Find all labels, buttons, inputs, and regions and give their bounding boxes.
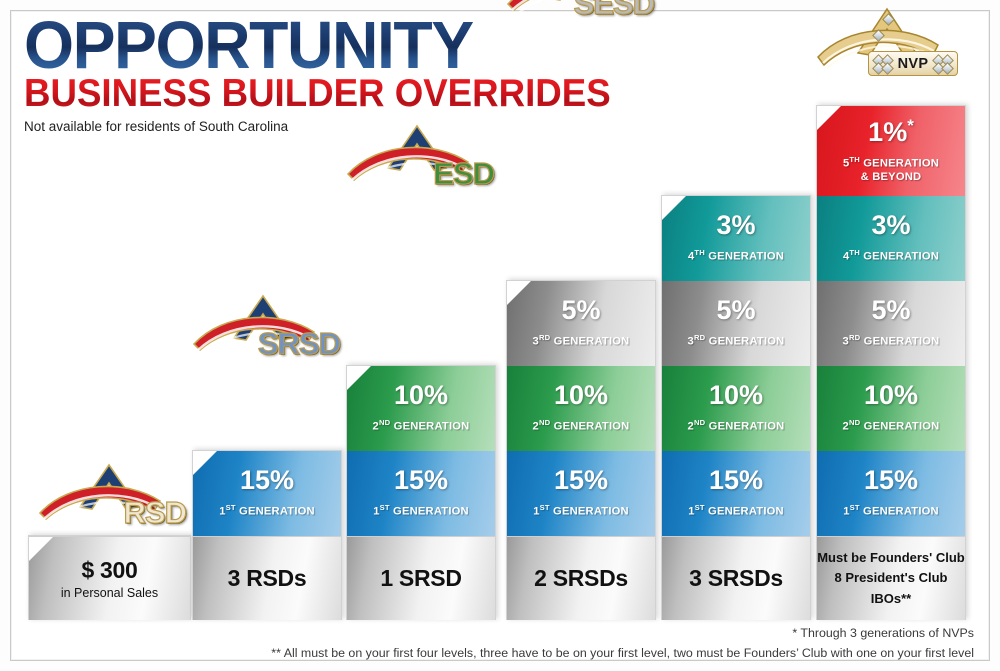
tier-generation-label: 1ST GENERATION xyxy=(688,503,784,519)
tier-2nd-generation: 10% 2ND GENERATION xyxy=(507,366,655,451)
column-srsd[interactable]: SRSD 15% 1ST GENERATION 3 RSDs xyxy=(192,450,342,620)
pin-plate-nvp: NVP xyxy=(868,51,958,76)
corner-fold xyxy=(29,536,54,562)
qualification-esd: 1 SRSD xyxy=(347,536,495,620)
qualification-line-2: 8 President's Club IBOs** xyxy=(817,568,965,608)
gen-ordinal: ST xyxy=(695,503,705,512)
tier-percent: 15% xyxy=(394,467,448,494)
tier-generation-label: 1ST GENERATION xyxy=(373,503,469,519)
gen-ordinal: RD xyxy=(539,333,550,342)
tier-1st-generation: 15% 1ST GENERATION xyxy=(662,451,810,536)
tier-3rd-generation: 5% 3RD GENERATION xyxy=(507,281,655,366)
tier-percent: 10% xyxy=(864,382,918,409)
tier-generation-label: 3RD GENERATION xyxy=(843,333,940,349)
tier-stack-sesd: 5% 3RD GENERATION 10% 2ND GENERATION 15%… xyxy=(506,280,656,620)
corner-fold xyxy=(507,281,532,306)
gen-word-2: & BEYOND xyxy=(861,171,922,183)
pin-label-srsd: SRSD xyxy=(258,326,340,362)
gen-ordinal: ND xyxy=(849,418,860,427)
corner-fold xyxy=(193,451,218,476)
gen-ordinal: ND xyxy=(379,418,390,427)
column-nvp[interactable]: NVP 1%* 5TH GENERATION& BEYOND 3% xyxy=(816,105,966,620)
gen-word: GENERATION xyxy=(863,251,939,263)
tier-percent: 1%* xyxy=(868,117,914,146)
tier-3rd-generation: 5% 3RD GENERATION xyxy=(817,281,965,366)
tier-generation-label: 1ST GENERATION xyxy=(219,503,315,519)
qualification-line-1: Must be Founders' Club xyxy=(817,548,965,568)
footnote-two: ** All must be on your first four levels… xyxy=(271,646,974,660)
column-sesd[interactable]: SESD 5% 3RD GENERATION 10% 2ND GENERATIO… xyxy=(506,280,656,620)
tier-generation-label: 5TH GENERATION& BEYOND xyxy=(843,155,939,185)
pin-badge-nvp: NVP xyxy=(812,7,962,79)
qualification-rsd: $ 300 in Personal Sales xyxy=(29,536,190,620)
tier-percent: 5% xyxy=(716,297,755,324)
tier-5th-generation: 1%* 5TH GENERATION& BEYOND xyxy=(817,106,965,196)
tier-generation-label: 2ND GENERATION xyxy=(843,418,940,434)
tier-percent: 15% xyxy=(709,467,763,494)
pin-label-sesd: SESD xyxy=(574,0,654,22)
column-nsd[interactable]: NSD 3% 4TH GENERATION 5% 3RD GENERATION xyxy=(661,195,811,620)
tier-generation-label: 2ND GENERATION xyxy=(373,418,470,434)
tier-percent: 5% xyxy=(561,297,600,324)
tier-generation-label: 1ST GENERATION xyxy=(843,503,939,519)
pin-badge-sesd: SESD xyxy=(502,0,652,24)
tier-stack-nsd: 3% 4TH GENERATION 5% 3RD GENERATION 10% … xyxy=(661,195,811,620)
diamond-gem-icon xyxy=(872,29,885,42)
gen-ordinal: TH xyxy=(849,248,860,257)
tier-generation-label: 4TH GENERATION xyxy=(688,248,784,264)
footnote-one: * Through 3 generations of NVPs xyxy=(792,626,974,640)
achievers-logo-icon xyxy=(502,0,652,24)
tier-percent: 3% xyxy=(716,212,755,239)
tier-2nd-generation: 10% 2ND GENERATION xyxy=(817,366,965,451)
achievers-logo-icon xyxy=(34,461,184,533)
gen-word: GENERATION xyxy=(864,421,940,433)
diamond-gem-icon xyxy=(881,62,894,75)
tier-3rd-generation: 5% 3RD GENERATION xyxy=(662,281,810,366)
gen-word: GENERATION xyxy=(239,506,315,518)
pin-badge-esd: ESD xyxy=(342,122,492,194)
tier-generation-label: 4TH GENERATION xyxy=(843,248,939,264)
pin-label-rsd: RSD xyxy=(124,495,186,531)
tier-percent: 15% xyxy=(864,467,918,494)
pin-label-esd: ESD xyxy=(433,156,494,192)
gen-ordinal: TH xyxy=(849,155,860,164)
tier-generation-label: 3RD GENERATION xyxy=(688,333,785,349)
qualification-srsd: 3 RSDs xyxy=(193,536,341,620)
tier-percent: 15% xyxy=(554,467,608,494)
tier-stack-rsd: $ 300 in Personal Sales xyxy=(28,535,191,620)
diamond-gem-icon xyxy=(932,54,945,67)
gen-word: GENERATION xyxy=(553,506,629,518)
gen-word: GENERATION xyxy=(863,506,939,518)
gen-word: GENERATION xyxy=(863,158,939,170)
tier-percent: 3% xyxy=(871,212,910,239)
pin-badge-srsd: SRSD xyxy=(188,292,338,364)
tier-generation-label: 2ND GENERATION xyxy=(688,418,785,434)
gen-ordinal: TH xyxy=(694,248,705,257)
gen-ordinal: ST xyxy=(850,503,860,512)
tier-generation-label: 1ST GENERATION xyxy=(533,503,629,519)
gen-ordinal: ND xyxy=(694,418,705,427)
tier-2nd-generation: 10% 2ND GENERATION xyxy=(662,366,810,451)
diamond-gem-icon xyxy=(941,54,954,67)
gen-word: GENERATION xyxy=(708,506,784,518)
tier-generation-label: 3RD GENERATION xyxy=(533,333,630,349)
qualification-amount: $ 300 xyxy=(81,557,137,584)
corner-fold xyxy=(347,366,372,391)
diamond-gem-icon xyxy=(872,54,885,67)
tier-footnote-star: * xyxy=(907,116,914,135)
tier-1st-generation: 15% 1ST GENERATION xyxy=(347,451,495,536)
gen-ordinal: ST xyxy=(540,503,550,512)
qualification-amount: 2 SRSDs xyxy=(534,565,628,592)
tier-4th-generation: 3% 4TH GENERATION xyxy=(662,196,810,281)
achievers-logo-icon xyxy=(342,122,492,194)
gen-ordinal: RD xyxy=(694,333,705,342)
column-rsd[interactable]: RSD $ 300 in Personal Sales xyxy=(28,535,191,620)
column-esd[interactable]: ESD 10% 2ND GENERATION 15% 1ST GENERATIO… xyxy=(346,365,496,620)
diamond-gem-icon xyxy=(881,54,894,67)
opportunity-poster: OPPORTUNITY BUSINESS BUILDER OVERRIDES N… xyxy=(0,0,1000,671)
tier-1st-generation: 15% 1ST GENERATION xyxy=(193,451,341,536)
tier-percent: 5% xyxy=(871,297,910,324)
qualification-amount: 3 SRSDs xyxy=(689,565,783,592)
qualification-detail: in Personal Sales xyxy=(61,586,158,600)
tier-generation-label: 2ND GENERATION xyxy=(533,418,630,434)
diamond-gem-icon xyxy=(882,13,895,26)
tier-stack-srsd: 15% 1ST GENERATION 3 RSDs xyxy=(192,450,342,620)
tier-1st-generation: 15% 1ST GENERATION xyxy=(817,451,965,536)
corner-fold xyxy=(662,196,687,221)
qualification-amount: 3 RSDs xyxy=(228,565,307,592)
corner-fold xyxy=(817,106,842,131)
gen-word: GENERATION xyxy=(393,506,469,518)
diamond-gem-icon xyxy=(941,62,954,75)
tier-percent-value: 1% xyxy=(868,117,907,147)
tier-2nd-generation: 10% 2ND GENERATION xyxy=(347,366,495,451)
qualification-sesd: 2 SRSDs xyxy=(507,536,655,620)
gen-ordinal: RD xyxy=(849,333,860,342)
gen-word: GENERATION xyxy=(394,421,470,433)
gen-ordinal: ST xyxy=(380,503,390,512)
diamond-gem-icon xyxy=(932,62,945,75)
tier-stack-esd: 10% 2ND GENERATION 15% 1ST GENERATION 1 … xyxy=(346,365,496,620)
qualification-nvp: Must be Founders' Club 8 President's Clu… xyxy=(817,536,965,620)
tier-percent: 15% xyxy=(240,467,294,494)
achievers-logo-icon xyxy=(188,292,338,364)
tier-4th-generation: 3% 4TH GENERATION xyxy=(817,196,965,281)
tier-1st-generation: 15% 1ST GENERATION xyxy=(507,451,655,536)
gen-word: GENERATION xyxy=(554,336,630,348)
achievers-diamond-logo-icon xyxy=(812,7,962,79)
tier-chart: RSD $ 300 in Personal Sales SRSD xyxy=(0,0,1000,671)
gen-word: GENERATION xyxy=(708,251,784,263)
tier-percent: 10% xyxy=(554,382,608,409)
tier-stack-nvp: 1%* 5TH GENERATION& BEYOND 3% 4TH GENERA… xyxy=(816,105,966,620)
tier-percent: 10% xyxy=(709,382,763,409)
gen-word: GENERATION xyxy=(864,336,940,348)
gen-word: GENERATION xyxy=(709,336,785,348)
gen-word: GENERATION xyxy=(709,421,785,433)
gen-word: GENERATION xyxy=(554,421,630,433)
pin-label-nvp: NVP xyxy=(898,56,929,72)
tier-percent: 10% xyxy=(394,382,448,409)
qualification-amount: 1 SRSD xyxy=(380,565,461,592)
gen-ordinal: ST xyxy=(226,503,236,512)
diamond-gem-icon xyxy=(872,62,885,75)
gen-ordinal: ND xyxy=(539,418,550,427)
qualification-nsd: 3 SRSDs xyxy=(662,536,810,620)
pin-badge-rsd: RSD xyxy=(34,461,184,533)
